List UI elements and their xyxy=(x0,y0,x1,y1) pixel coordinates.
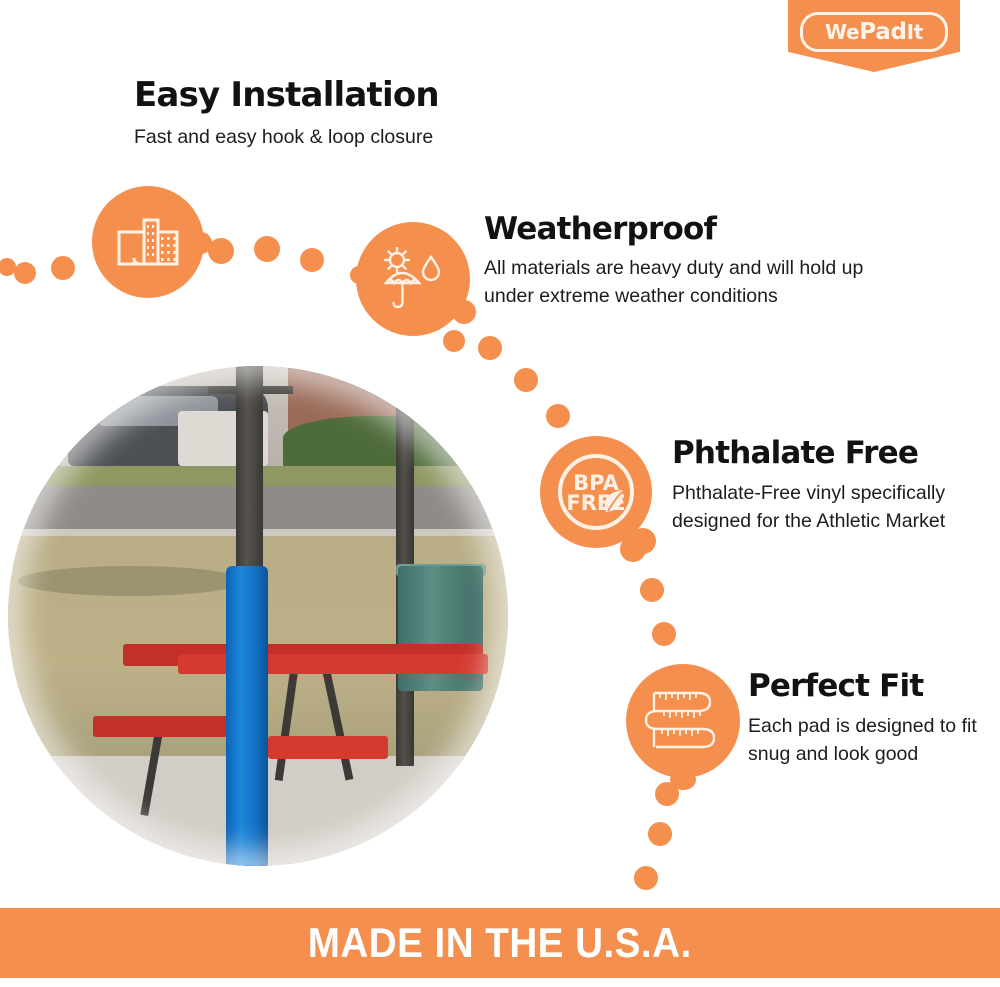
logo-word-it: It xyxy=(907,20,923,44)
product-photo xyxy=(8,366,508,866)
path-dot xyxy=(478,336,502,360)
brand-logo[interactable]: WePadIt xyxy=(788,0,960,72)
building-velcro-icon xyxy=(92,186,204,298)
feature-description-perfect-fit: Each pad is designed to fit snug and loo… xyxy=(748,713,978,768)
measuring-tape-icon xyxy=(626,664,740,778)
bpa-free-leaf-icon: BPA FREE xyxy=(540,436,652,548)
logo-word-pad: Pad xyxy=(859,19,906,45)
feature-description-weatherproof: All materials are heavy duty and will ho… xyxy=(484,255,904,310)
sun-umbrella-rain-icon xyxy=(356,222,470,336)
path-dot xyxy=(14,262,36,284)
icon-nub xyxy=(670,770,696,790)
path-dot xyxy=(300,248,324,272)
icon-nub xyxy=(452,300,476,324)
made-in-usa-banner: MADE IN THE U.S.A. xyxy=(0,908,1000,978)
feature-title-perfect-fit: Perfect Fit xyxy=(748,670,923,703)
icon-nub xyxy=(190,232,212,254)
logo-outline-box: WePadIt xyxy=(800,12,948,52)
feature-title-easy-installation: Easy Installation xyxy=(134,78,439,114)
feature-description-easy-installation: Fast and easy hook & loop closure xyxy=(134,124,554,152)
icon-nub xyxy=(630,528,656,554)
path-dot xyxy=(51,256,75,280)
path-dot xyxy=(640,578,664,602)
path-dot xyxy=(546,404,570,428)
photo-vignette xyxy=(8,366,508,866)
infographic-page: WePadIt Easy Installation Fast and easy … xyxy=(0,0,1000,987)
feature-title-phthalate-free: Phthalate Free xyxy=(672,437,918,470)
path-dot xyxy=(443,330,465,352)
feature-description-phthalate-free: Phthalate-Free vinyl specifically design… xyxy=(672,480,947,535)
feature-title-weatherproof: Weatherproof xyxy=(484,213,716,246)
path-dot xyxy=(648,822,672,846)
path-dot xyxy=(634,866,658,890)
logo-wordmark: WePadIt xyxy=(825,21,923,44)
path-dot xyxy=(254,236,280,262)
icon-nub xyxy=(350,266,368,284)
made-in-usa-text: MADE IN THE U.S.A. xyxy=(308,919,692,967)
path-dot xyxy=(514,368,538,392)
logo-word-we: We xyxy=(825,20,859,44)
path-dot xyxy=(652,622,676,646)
